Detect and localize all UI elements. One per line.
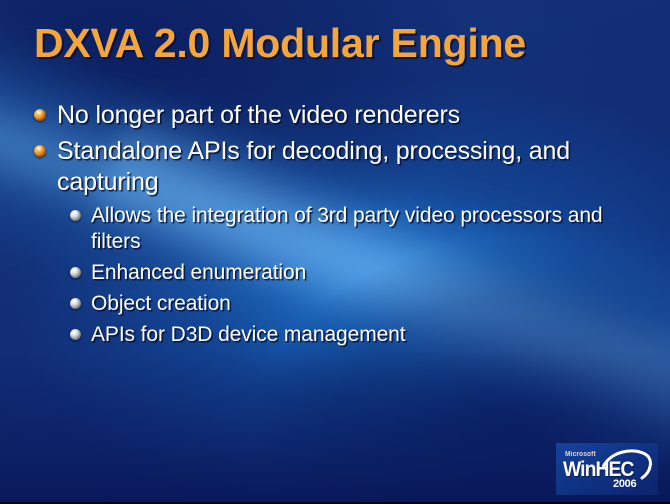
microsoft-wordmark: Microsoft [565, 451, 596, 458]
orange-sphere-bullet-icon [34, 145, 46, 157]
silver-sphere-bullet-icon [70, 298, 81, 309]
sub-bullet-text: Allows the integration of 3rd party vide… [91, 203, 640, 255]
sub-bullet-text: APIs for D3D device management [91, 322, 405, 348]
slide-title: DXVA 2.0 Modular Engine [34, 18, 634, 68]
sub-bullet-item: APIs for D3D device management [0, 322, 670, 348]
sub-bullet-text: Object creation [91, 291, 231, 317]
presentation-slide: DXVA 2.0 Modular Engine No longer part o… [0, 0, 670, 504]
orange-sphere-bullet-icon [34, 109, 46, 121]
winhec-year: 2006 [613, 478, 636, 490]
bullet-item: Standalone APIs for decoding, processing… [0, 136, 670, 198]
winhec-logo: Microsoft WinHEC 2006 [556, 443, 658, 495]
sub-bullet-item: Allows the integration of 3rd party vide… [0, 203, 670, 255]
bullet-text: Standalone APIs for decoding, processing… [57, 136, 640, 198]
silver-sphere-bullet-icon [70, 329, 81, 340]
silver-sphere-bullet-icon [70, 267, 81, 278]
sub-bullet-text: Enhanced enumeration [91, 260, 306, 286]
bullet-item: No longer part of the video renderers [0, 100, 670, 131]
silver-sphere-bullet-icon [70, 210, 81, 221]
slide-body: No longer part of the video renderers St… [0, 100, 670, 353]
sub-bullet-item: Object creation [0, 291, 670, 317]
sub-bullet-item: Enhanced enumeration [0, 260, 670, 286]
bullet-text: No longer part of the video renderers [57, 100, 460, 131]
